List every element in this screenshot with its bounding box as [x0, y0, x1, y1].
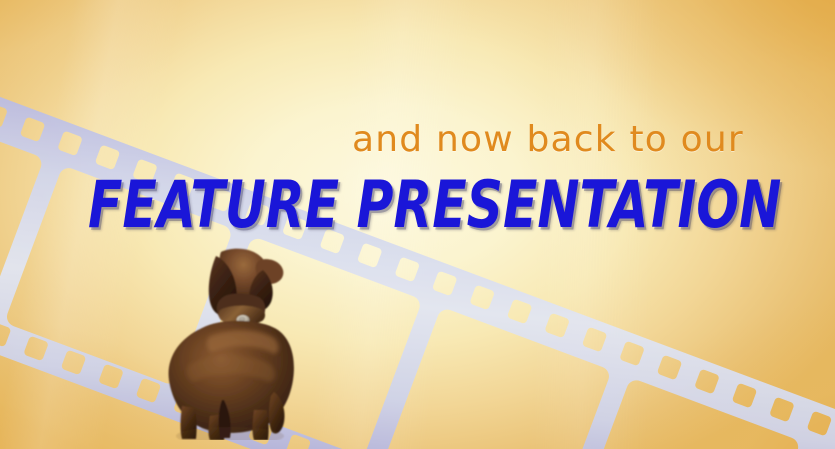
- dachshund-photo: [150, 240, 300, 440]
- subtitle-text: and now back to our: [352, 119, 744, 160]
- title-card-slide: and now back to our FEATURE PRESENTATION: [0, 0, 835, 449]
- page-title: FEATURE PRESENTATION: [88, 168, 760, 243]
